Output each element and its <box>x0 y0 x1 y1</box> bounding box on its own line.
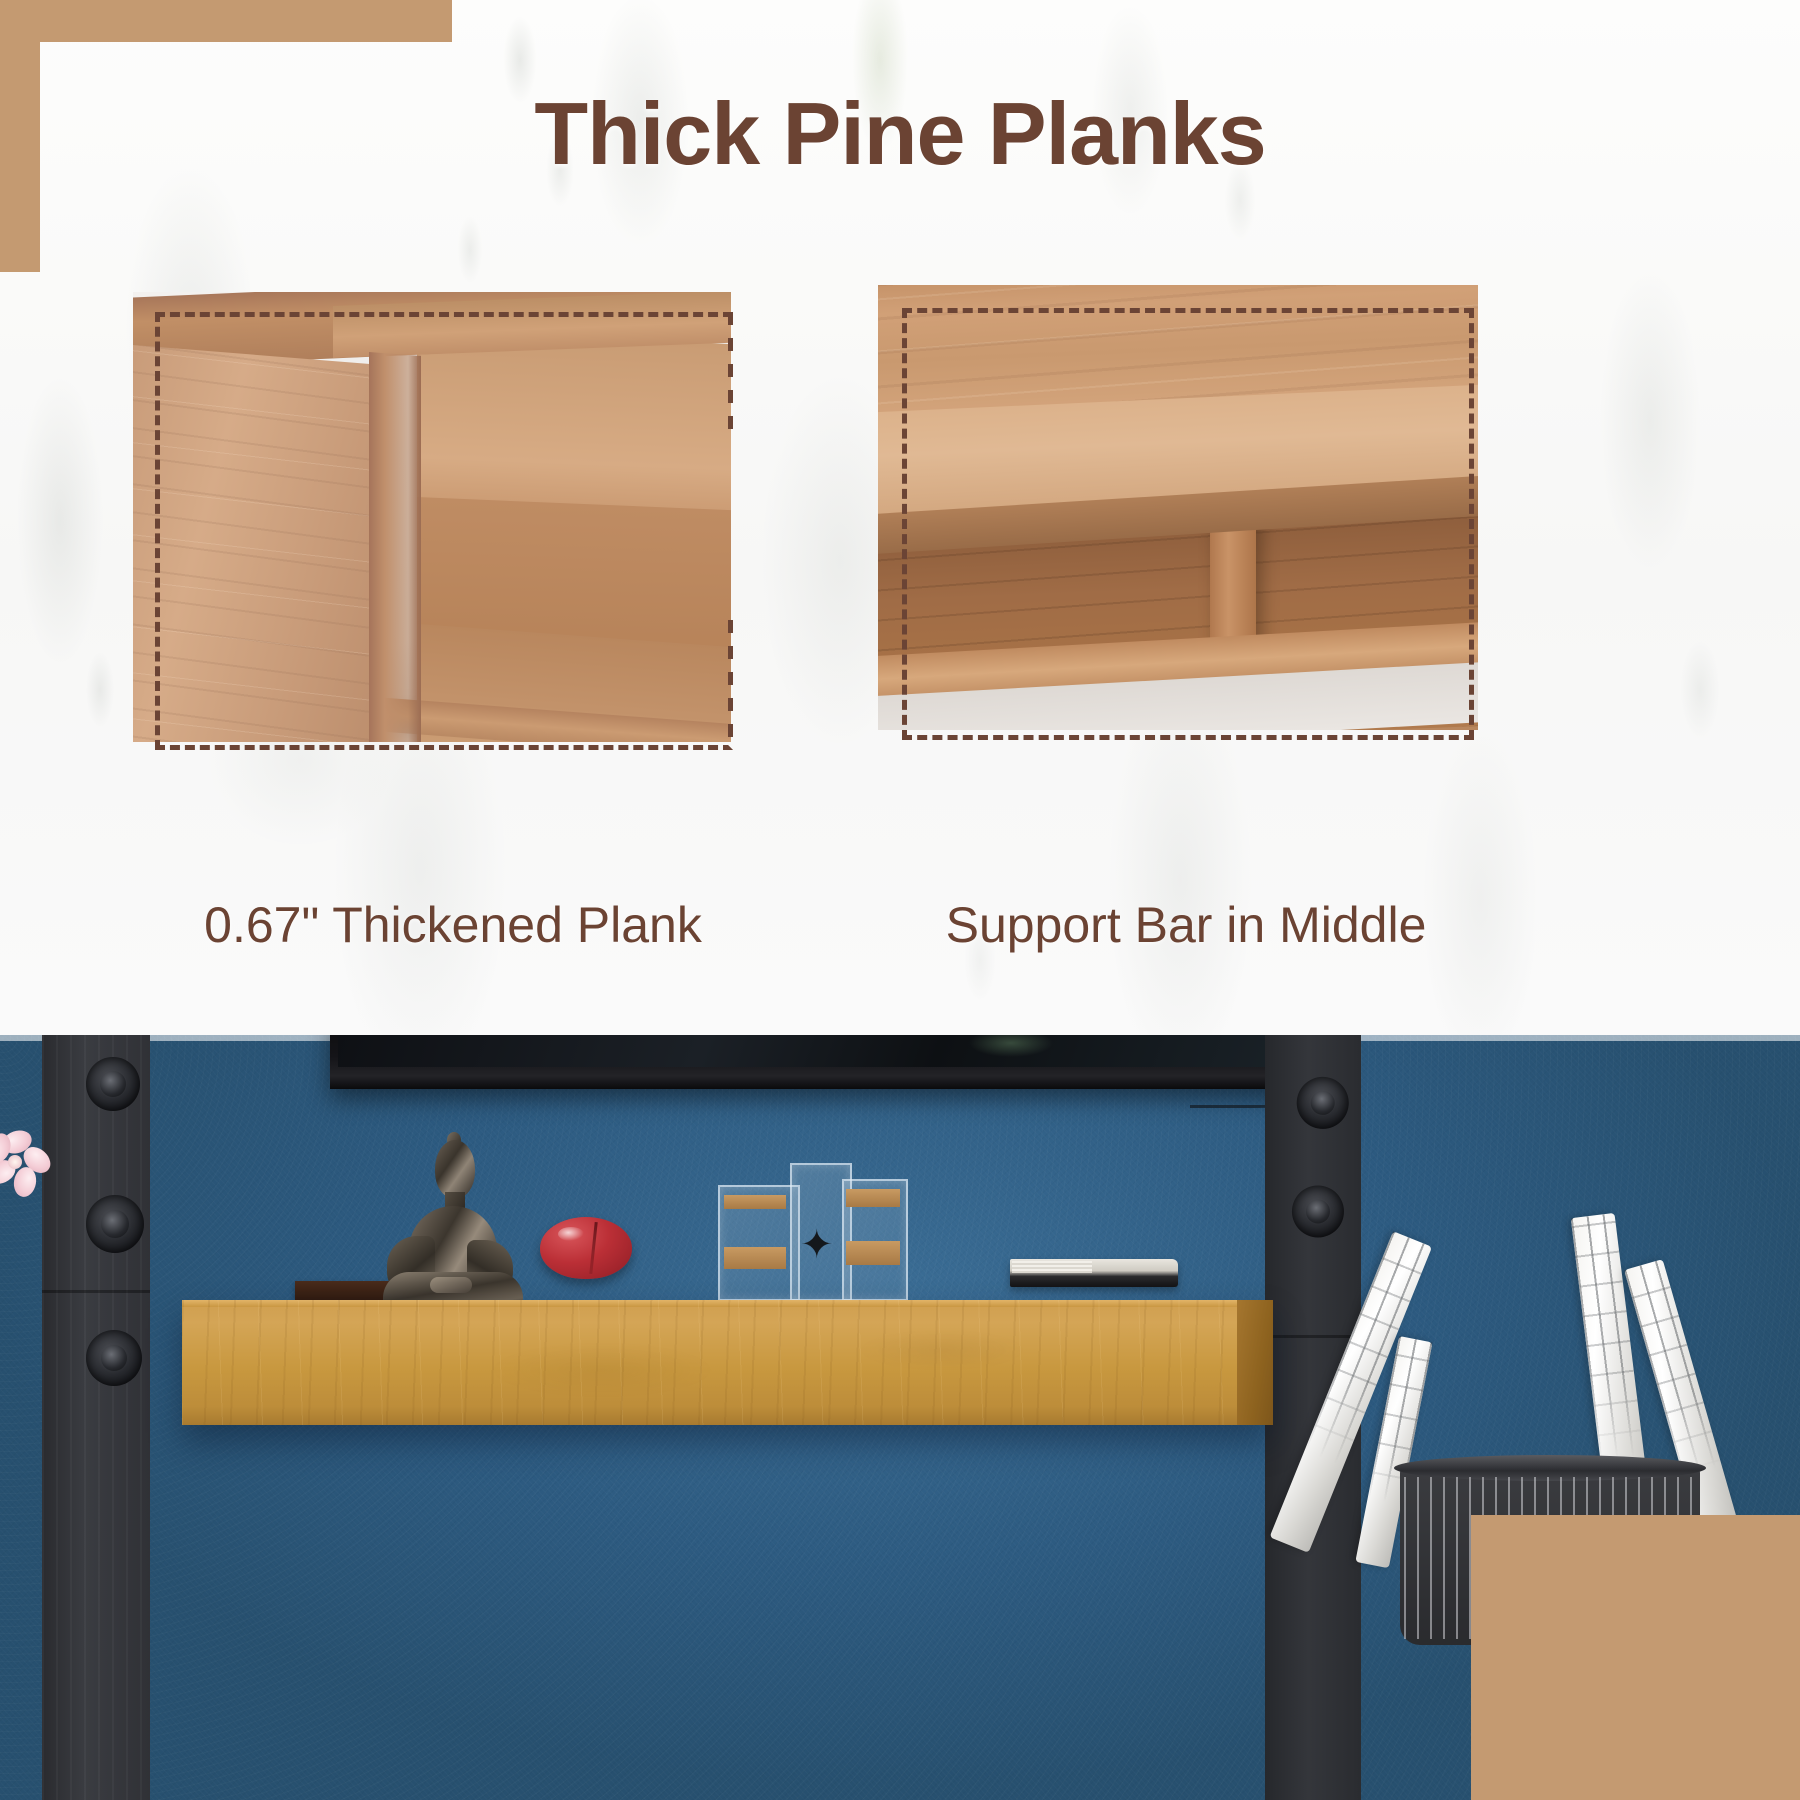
speaker-dome <box>100 1071 126 1097</box>
blossom-center <box>8 1155 22 1169</box>
dashed-frame-right <box>902 308 1474 740</box>
dashed-frame-right-top-segment <box>728 312 733 432</box>
corner-accent-bottom-right <box>1471 1515 1800 1800</box>
speaker-dome <box>101 1345 128 1372</box>
stone-seam <box>589 1222 597 1274</box>
speaker-driver-icon <box>86 1330 142 1386</box>
feature-caption-thickened-plank: 0.67" Thickened Plank <box>133 896 773 954</box>
tv-screen-panel <box>330 1035 1315 1089</box>
speaker-driver-icon <box>86 1057 140 1111</box>
shelf-end-cap <box>1237 1300 1273 1425</box>
cherry-blossom-decor <box>0 1131 58 1205</box>
column-seam <box>1265 1335 1361 1338</box>
speaker-driver-icon <box>86 1195 144 1253</box>
tv-reflection <box>951 1035 1071 1063</box>
glass-wood-insert <box>724 1247 786 1269</box>
column-texture <box>42 1035 150 1800</box>
column-seam <box>42 1290 150 1293</box>
corner-accent-top-left <box>0 0 452 42</box>
feature-panel: Thick Pine Planks 0.67" <box>0 0 1800 1035</box>
tv-display <box>338 1035 1307 1067</box>
glass-decor-cluster: ✦ <box>718 1155 908 1303</box>
dashed-frame-left <box>155 312 733 750</box>
infographic-canvas: Thick Pine Planks 0.67" <box>0 0 1800 1800</box>
statue-head <box>435 1140 475 1198</box>
star-ornament-icon: ✦ <box>800 1225 840 1265</box>
page-title: Thick Pine Planks <box>0 88 1800 180</box>
feature-caption-support-bar: Support Bar in Middle <box>866 896 1506 954</box>
speaker-dome <box>1303 1197 1332 1226</box>
glass-wood-insert <box>724 1195 786 1209</box>
dashed-frame-right-bottom-segment <box>728 620 733 750</box>
buddha-statue <box>375 1140 523 1310</box>
shelf-wood-grain <box>182 1300 1272 1425</box>
floating-wood-shelf <box>182 1300 1272 1425</box>
red-stone-decor <box>540 1217 632 1279</box>
glass-wood-insert <box>846 1189 900 1207</box>
book-on-shelf <box>1010 1259 1178 1287</box>
statue-hands <box>430 1277 472 1293</box>
speaker-dome <box>1306 1087 1338 1119</box>
glass-wood-insert <box>846 1241 900 1265</box>
speaker-dome <box>101 1210 129 1238</box>
speaker-column-left <box>42 1035 150 1800</box>
stone-highlight <box>558 1227 584 1241</box>
book-pages <box>1012 1261 1092 1273</box>
